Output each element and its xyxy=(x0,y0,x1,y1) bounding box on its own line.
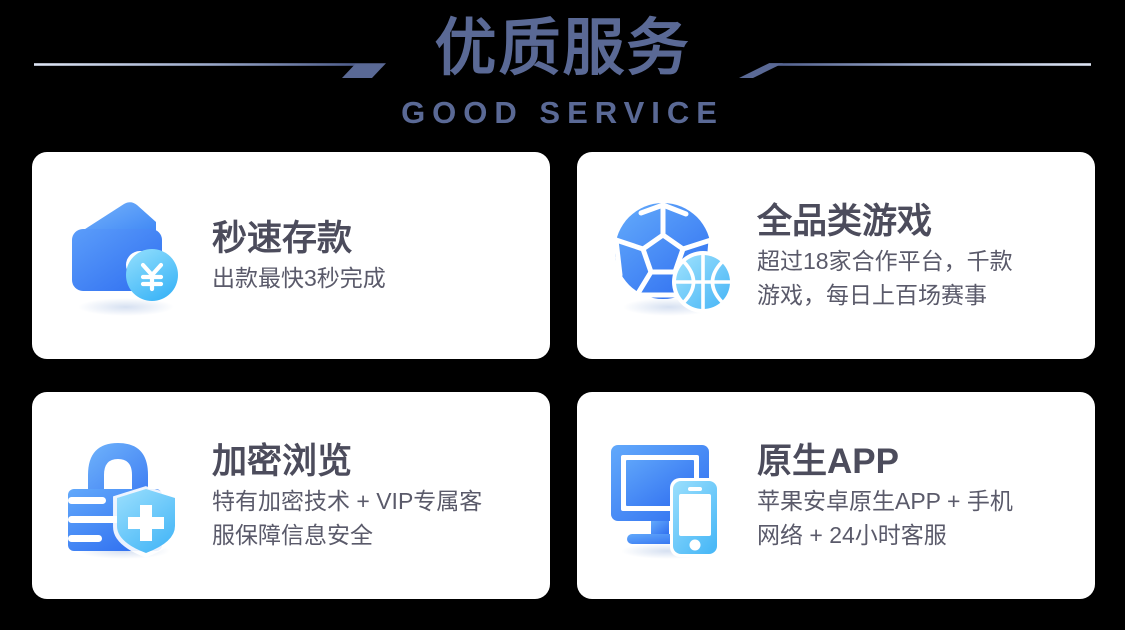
card-description-line-1: 特有加密技术 + VIP专属客 xyxy=(212,488,482,514)
card-description: 超过18家合作平台，千款 游戏，每日上百场赛事 xyxy=(757,244,1013,312)
card-text-native-app: 原生APP 苹果安卓原生APP + 手机 网络 + 24小时客服 xyxy=(757,440,1013,552)
card-text-encryption: 加密浏览 特有加密技术 + VIP专属客 服保障信息安全 xyxy=(212,440,482,552)
card-description: 出款最快3秒完成 xyxy=(212,261,386,295)
monitor-phone-icon xyxy=(607,431,735,561)
feature-card-encryption[interactable]: 加密浏览 特有加密技术 + VIP专属客 服保障信息安全 xyxy=(32,392,550,599)
feature-card-deposit[interactable]: 秒速存款 出款最快3秒完成 xyxy=(32,152,550,359)
lock-shield-icon xyxy=(62,431,190,561)
feature-card-games[interactable]: 全品类游戏 超过18家合作平台，千款 游戏，每日上百场赛事 xyxy=(577,152,1095,359)
card-text-games: 全品类游戏 超过18家合作平台，千款 游戏，每日上百场赛事 xyxy=(757,200,1013,312)
good-service-banner: 优质服务 GOOD SERVICE xyxy=(0,0,1125,630)
wallet-yen-icon xyxy=(62,191,190,321)
feature-card-grid: 秒速存款 出款最快3秒完成 xyxy=(32,152,1095,599)
card-description-line-1: 苹果安卓原生APP + 手机 xyxy=(757,488,1013,514)
card-title: 原生APP xyxy=(757,440,1013,484)
header: 优质服务 GOOD SERVICE xyxy=(0,0,1125,148)
soccer-basketball-icon xyxy=(607,191,735,321)
card-description-line-2: 服保障信息安全 xyxy=(212,522,373,548)
card-description: 苹果安卓原生APP + 手机 网络 + 24小时客服 xyxy=(757,484,1013,552)
card-description: 特有加密技术 + VIP专属客 服保障信息安全 xyxy=(212,484,482,552)
card-title: 秒速存款 xyxy=(212,217,386,261)
card-text-deposit: 秒速存款 出款最快3秒完成 xyxy=(212,217,386,295)
page-title: 优质服务 xyxy=(434,6,690,92)
card-description-line-2: 网络 + 24小时客服 xyxy=(757,522,947,548)
card-title: 全品类游戏 xyxy=(757,200,1013,244)
card-title: 加密浏览 xyxy=(212,440,482,484)
card-description-line-2: 游戏，每日上百场赛事 xyxy=(757,282,987,308)
card-description-line-1: 超过18家合作平台，千款 xyxy=(757,248,1013,274)
feature-card-native-app[interactable]: 原生APP 苹果安卓原生APP + 手机 网络 + 24小时客服 xyxy=(577,392,1095,599)
page-subtitle: GOOD SERVICE xyxy=(401,95,724,131)
